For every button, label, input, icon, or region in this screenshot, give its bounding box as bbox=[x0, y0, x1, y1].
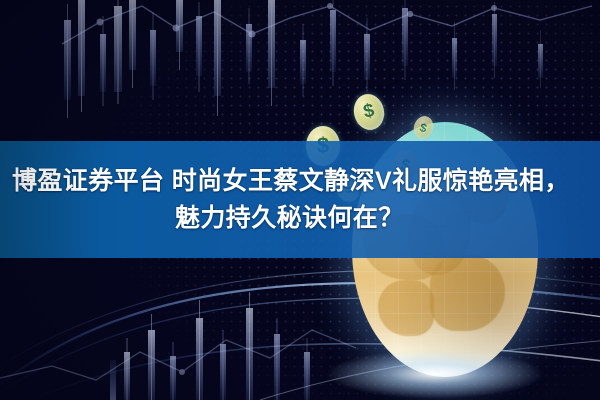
banner-image: $ $ $ $ $ 博盈证券平台 时尚女王蔡文静深V礼服惊艳亮相， 魅力持久秘诀… bbox=[0, 0, 600, 400]
vignette-overlay bbox=[0, 0, 600, 400]
